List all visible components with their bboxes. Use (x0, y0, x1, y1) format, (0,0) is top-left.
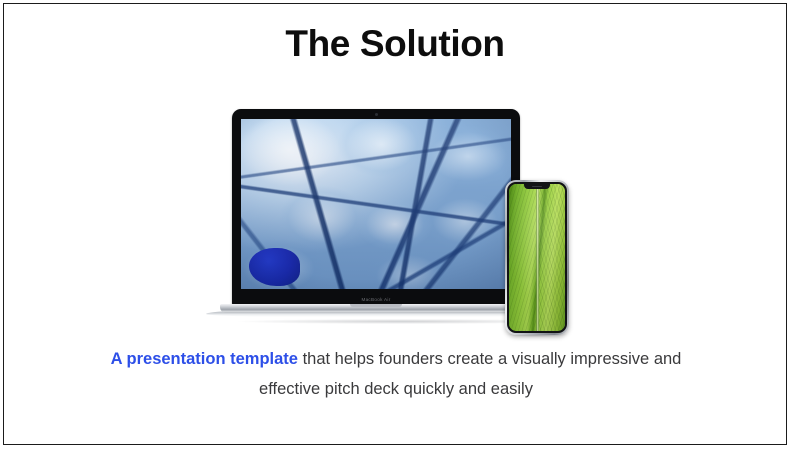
laptop-base-notch (350, 304, 402, 307)
laptop-brand-label: MacBook Air (232, 297, 520, 302)
caption-body: that helps founders create a visually im… (259, 350, 681, 398)
caption-text: A presentation template that helps found… (84, 344, 708, 404)
phone-body (505, 180, 569, 335)
phone-notch (524, 184, 550, 190)
laptop-lid: MacBook Air (232, 109, 520, 305)
page-title: The Solution (4, 23, 786, 66)
laptop-mockup: MacBook Air (232, 109, 520, 317)
laptop-wallpaper-vignette (241, 119, 511, 289)
laptop-base-body (220, 304, 532, 313)
phone-bezel (507, 182, 567, 333)
laptop-base (206, 304, 546, 317)
phone-speaker-icon (532, 186, 542, 187)
caption-highlight: A presentation template (111, 350, 298, 368)
phone-mockup (505, 180, 569, 335)
laptop-camera-icon (375, 113, 378, 116)
phone-wallpaper-shading (509, 184, 565, 331)
slide-frame: The Solution MacBook Air (3, 3, 787, 445)
phone-screen (509, 184, 565, 331)
device-mockup-group: MacBook Air (199, 104, 589, 342)
laptop-screen (241, 119, 511, 289)
